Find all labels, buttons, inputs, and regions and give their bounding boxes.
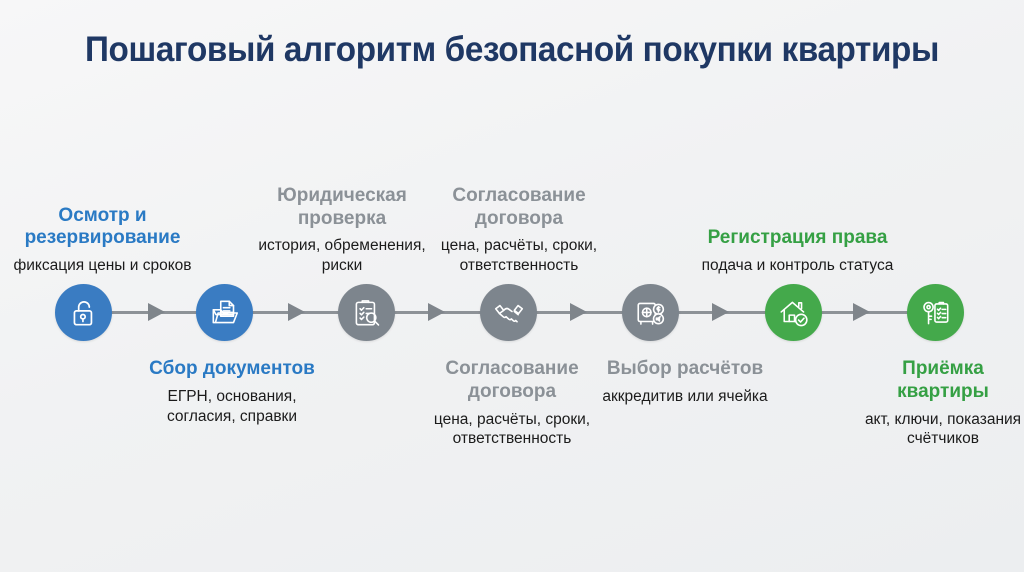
- key-checklist-icon: [919, 296, 953, 330]
- step-text-2: Сбор документов ЕГРН, основания, согласи…: [132, 358, 332, 426]
- flow-arrow-3: [428, 303, 445, 321]
- safe-vault-coins-icon: [634, 296, 668, 330]
- flow-arrow-4: [570, 303, 587, 321]
- page-title: Пошаговый алгоритм безопасной покупки кв…: [26, 30, 999, 70]
- step-subtitle-4: цена, расчёты, сроки, ответственность: [424, 236, 614, 276]
- step-subtitle-1: фиксация цены и сроков: [0, 256, 205, 276]
- step-heading-3: Юридическая проверка: [252, 185, 432, 231]
- step-heading-5: Согласование договора: [412, 358, 612, 404]
- step-heading-6: Выбор расчётов: [600, 358, 770, 381]
- step-text-3: Юридическая проверка история, обременени…: [252, 166, 432, 276]
- step-subtitle-3: история, обременения, риски: [252, 236, 432, 276]
- step-subtitle-8: акт, ключи, показания счётчиков: [862, 410, 1024, 450]
- folder-document-icon: [208, 296, 242, 330]
- step-text-4: Согласование договора цена, расчёты, сро…: [424, 166, 614, 276]
- handshake-icon: [492, 296, 526, 330]
- step-node-1[interactable]: [55, 284, 112, 341]
- step-heading-2: Сбор документов: [132, 358, 332, 381]
- step-text-5: Согласование договора цена, расчёты, сро…: [412, 358, 612, 449]
- step-heading-1: Осмотр и резервирование: [0, 205, 205, 251]
- step-node-4[interactable]: [480, 284, 537, 341]
- infographic-canvas: Пошаговый алгоритм безопасной покупки кв…: [0, 0, 1024, 572]
- step-node-7[interactable]: [907, 284, 964, 341]
- step-node-5[interactable]: [622, 284, 679, 341]
- flow-arrow-2: [288, 303, 305, 321]
- clipboard-magnifier-icon: [350, 296, 384, 330]
- step-text-1: Осмотр и резервирование фиксация цены и …: [0, 166, 205, 276]
- house-check-icon: [777, 296, 811, 330]
- step-subtitle-5: цена, расчёты, сроки, ответственность: [412, 410, 612, 450]
- step-heading-8: Приёмка квартиры: [862, 358, 1024, 404]
- step-node-2[interactable]: [196, 284, 253, 341]
- step-text-8: Приёмка квартиры акт, ключи, показания с…: [862, 358, 1024, 449]
- step-subtitle-7: подача и контроль статуса: [690, 256, 905, 276]
- step-text-7: Регистрация права подача и контроль стат…: [690, 166, 905, 276]
- open-padlock-icon: [67, 296, 101, 330]
- flow-arrow-5: [712, 303, 729, 321]
- step-heading-4: Согласование договора: [424, 185, 614, 231]
- step-text-6: Выбор расчётов аккредитив или ячейка: [600, 358, 770, 407]
- step-heading-7: Регистрация права: [690, 227, 905, 250]
- step-subtitle-2: ЕГРН, основания, согласия, справки: [132, 387, 332, 427]
- step-subtitle-6: аккредитив или ячейка: [600, 387, 770, 407]
- step-node-6[interactable]: [765, 284, 822, 341]
- flow-arrow-6: [853, 303, 870, 321]
- flow-arrow-1: [148, 303, 165, 321]
- step-node-3[interactable]: [338, 284, 395, 341]
